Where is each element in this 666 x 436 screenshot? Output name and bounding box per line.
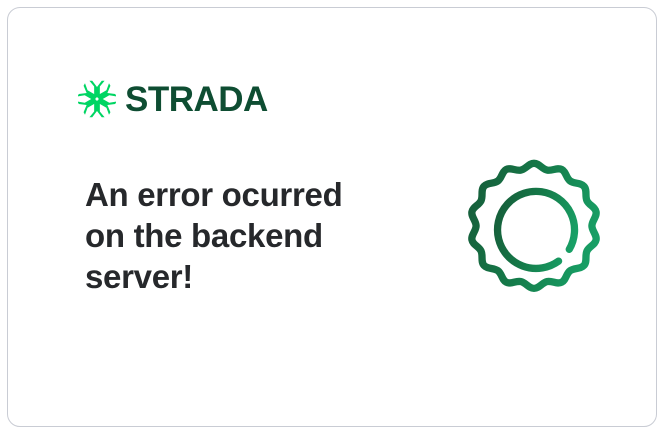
error-card: STRADA An error ocurred on the backend s… bbox=[7, 7, 657, 427]
brand-logo: STRADA bbox=[78, 76, 268, 122]
brand-wordmark: STRADA bbox=[125, 82, 268, 117]
gear-icon bbox=[457, 151, 611, 305]
error-message: An error ocurred on the backend server! bbox=[85, 174, 385, 297]
strada-asterisk-icon bbox=[78, 80, 116, 118]
